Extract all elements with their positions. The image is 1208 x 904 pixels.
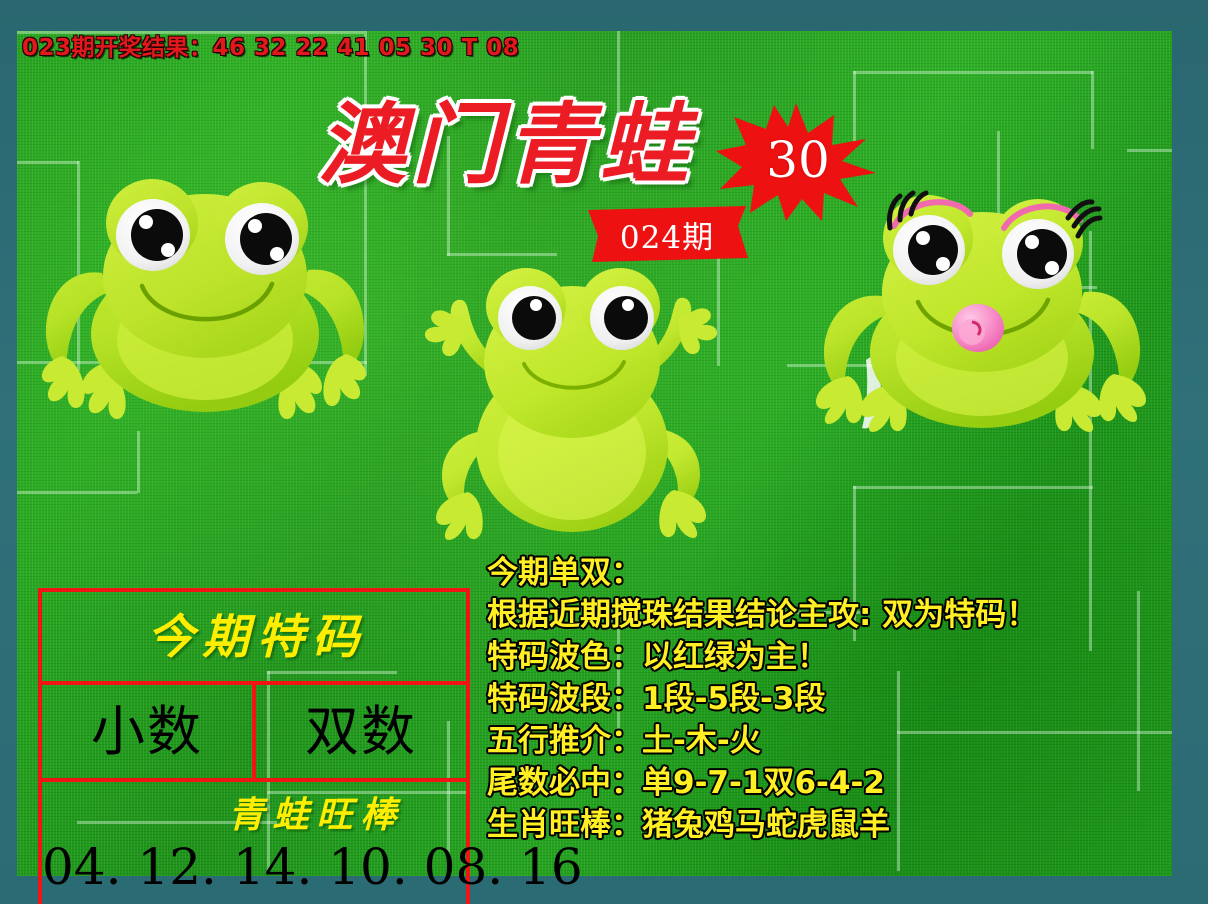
tip-cell-1: 小数 [42, 687, 252, 772]
tip-table-title: 今期特码 [42, 594, 466, 675]
info-line: 特码波色：以红绿为主！ [487, 636, 1177, 678]
info-line: 尾数必中：单9-7-1双6-4-2 [487, 762, 1177, 804]
info-line: 今期单双： [487, 552, 1177, 594]
issue-ribbon: 024期 [584, 206, 750, 262]
info-line: 特码波段：1段-5段-3段 [487, 678, 1177, 720]
main-title-block: 澳门青蛙 [318, 100, 694, 188]
info-line: 五行推介：土-木-火 [487, 720, 1177, 762]
info-block: 今期单双： 根据近期搅珠结果结论主攻: 双为特码！ 特码波色：以红绿为主！ 特码… [487, 552, 1177, 846]
table-row: 青蛙旺棒 04. 12. 14. 10. 08. 16 [42, 782, 466, 904]
table-cell-title: 今期特码 [42, 592, 466, 681]
tip-table-numbers: 04. 12. 14. 10. 08. 16 [42, 838, 583, 898]
table-cell-even: 双数 [252, 685, 466, 778]
frog-left-illustration [40, 168, 370, 423]
badge-number: 30 [716, 103, 876, 221]
main-title-text: 澳门青蛙 [318, 100, 694, 188]
info-line: 根据近期搅珠结果结论主攻: 双为特码！ [487, 594, 1177, 636]
issue-ribbon-text: 024期 [584, 206, 750, 262]
info-line: 生肖旺棒：猪兔鸡马蛇虎鼠羊 [487, 804, 1177, 846]
starburst-badge: 30 [716, 103, 876, 221]
table-row: 今期特码 [42, 592, 466, 685]
draw-result-text: 023期开奖结果：46 32 22 41 05 30 T 08 [22, 28, 519, 62]
frog-middle-illustration [412, 250, 732, 540]
poster-canvas: 023期开奖结果：46 32 22 41 05 30 T 08 [0, 0, 1208, 904]
tip-cell-2: 双数 [256, 687, 466, 772]
table-row: 小数 双数 [42, 685, 466, 782]
table-cell-small: 小数 [42, 685, 252, 778]
tip-table: 今期特码 小数 双数 青蛙旺棒 04. 12. 14. 10. 08. 16 [38, 588, 470, 904]
